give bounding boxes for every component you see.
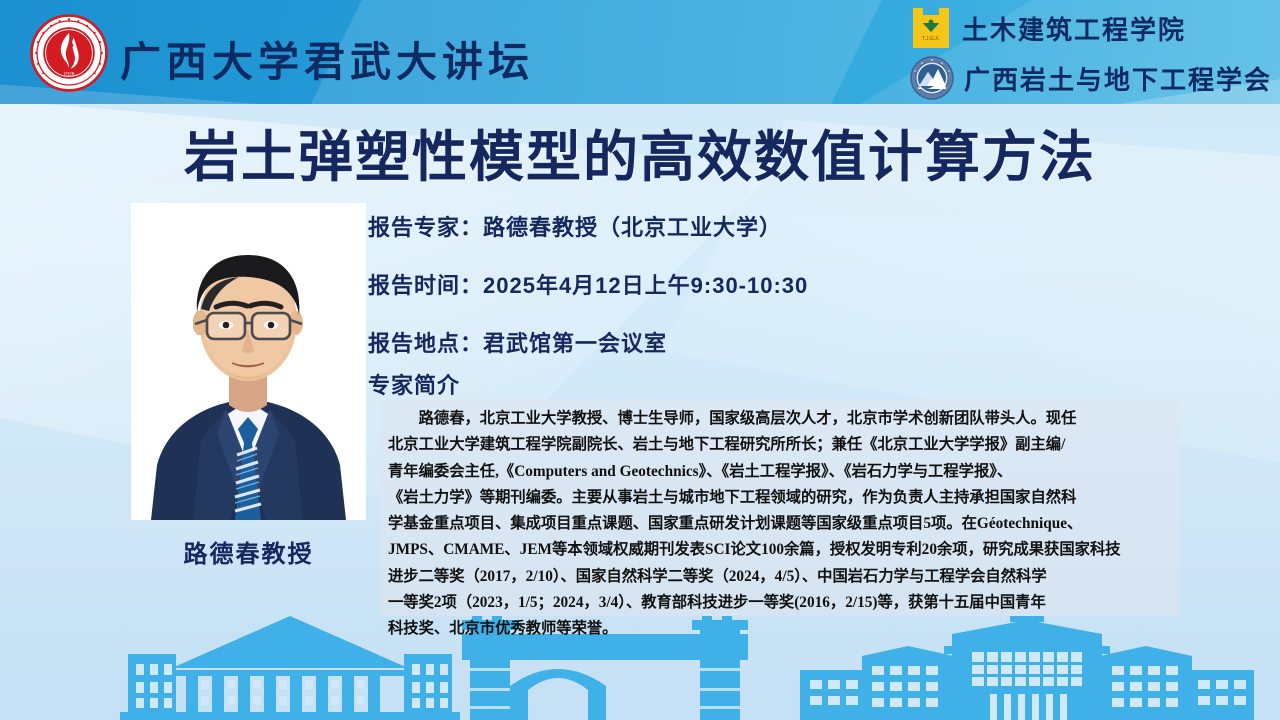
svg-text:T.J.G.X.: T.J.G.X.: [922, 36, 940, 42]
lecture-poster: 1928 广西大学君武大讲坛 T.J.G.X. 土木建筑工程学院: [0, 0, 1280, 720]
seal-year-text: 1928: [64, 72, 75, 78]
lecture-info-list: 报告专家：路德春教授（北京工业大学） 报告时间：2025年4月12日上午9:30…: [368, 210, 808, 384]
info-line-time: 报告时间：2025年4月12日上午9:30-10:30: [368, 268, 808, 300]
bio-line: 科技奖、北京市优秀教师等荣誉。: [388, 616, 1172, 642]
info-line-speaker: 报告专家：路德春教授（北京工业大学）: [368, 210, 808, 242]
geotechnical-society-mountain-badge-icon: [910, 56, 954, 100]
speaker-portrait-block: 路德春教授: [131, 203, 366, 569]
civil-engineering-college-shield-icon: T.J.G.X.: [910, 6, 952, 50]
info-line-venue: 报告地点：君武馆第一会议室: [368, 326, 808, 358]
bio-line: 路德春，北京工业大学教授、博士生导师，国家级高层次人才，北京市学术创新团队带头人…: [388, 406, 1172, 432]
speaker-portrait-frame: [131, 203, 366, 520]
bio-line: 《岩土力学》等期刊编委。主要从事岩土与城市地下工程领域的研究，作为负责人主持承担…: [388, 485, 1172, 511]
bio-section-heading: 专家简介: [368, 368, 460, 400]
org-label-society: 广西岩土与地下工程学会: [964, 60, 1272, 97]
org-row-college: T.J.G.X. 土木建筑工程学院: [910, 4, 1272, 52]
org-row-society: 广西岩土与地下工程学会: [910, 54, 1272, 102]
speaker-portrait-image: [131, 203, 366, 520]
bio-line: JMPS、CMAME、JEM等本领域权威期刊发表SCI论文100余篇，授权发明专…: [388, 537, 1172, 563]
gxu-university-seal-icon: 1928: [30, 14, 108, 92]
speaker-bio-box: 路德春，北京工业大学教授、博士生导师，国家级高层次人才，北京市学术创新团队带头人…: [380, 400, 1180, 616]
bio-line: 青年编委会主任,《Computers and Geotechnics》、《岩土工…: [388, 459, 1172, 485]
bio-line: 北京工业大学建筑工程学院副院长、岩土与地下工程研究所所长；兼任《北京工业大学学报…: [388, 432, 1172, 458]
organization-logos: T.J.G.X. 土木建筑工程学院 广西岩土与地下工程学会: [910, 4, 1272, 102]
org-label-college: 土木建筑工程学院: [962, 10, 1186, 47]
bio-line: 进步二等奖（2017，2/10）、国家自然科学二等奖（2024，4/5）、中国岩…: [388, 564, 1172, 590]
bio-line: 学基金重点项目、集成项目重点课题、国家重点研发计划课题等国家级重点项目5项。在G…: [388, 511, 1172, 537]
page-title: 岩土弹塑性模型的高效数值计算方法: [0, 112, 1280, 192]
speaker-name-caption: 路德春教授: [131, 534, 366, 569]
bio-line: 一等奖2项（2023，1/5；2024，3/4）、教育部科技进步一等奖(2016…: [388, 590, 1172, 616]
forum-title: 广西大学君武大讲坛: [120, 28, 534, 88]
